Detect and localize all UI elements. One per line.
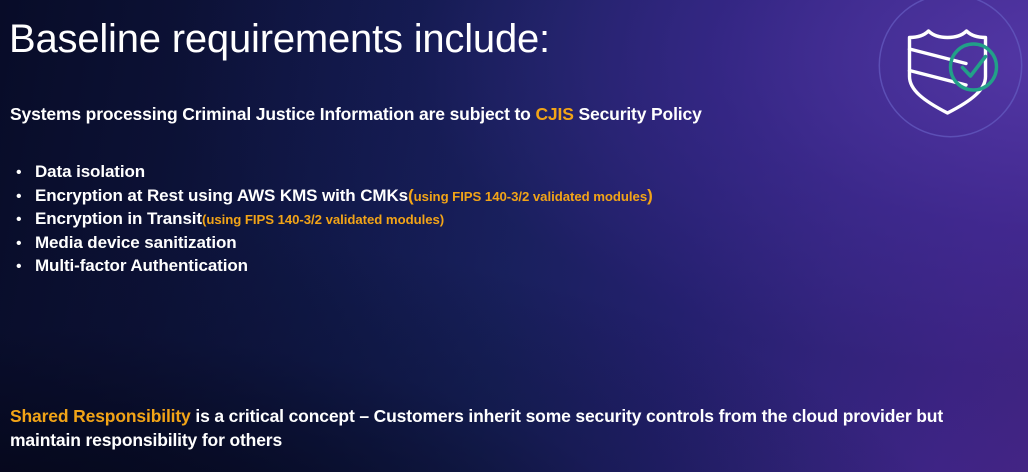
list-item-note: (using FIPS 140-3/2 validated modules) bbox=[202, 212, 444, 227]
subtitle-highlight-cjis: CJIS bbox=[535, 104, 573, 124]
list-item-paren-close: ) bbox=[647, 186, 653, 206]
list-item-label: Encryption in Transit bbox=[35, 209, 202, 229]
list-item-label: Encryption at Rest using AWS KMS with CM… bbox=[35, 186, 408, 206]
list-item-label: Multi-factor Authentication bbox=[35, 256, 248, 276]
list-item-label: Media device sanitization bbox=[35, 233, 237, 253]
list-item: • Encryption at Rest using AWS KMS with … bbox=[10, 186, 870, 210]
list-item-label: Data isolation bbox=[35, 162, 145, 182]
subtitle-text-after: Security Policy bbox=[574, 104, 702, 124]
list-item: • Multi-factor Authentication bbox=[10, 256, 870, 280]
slide-canvas: Baseline requirements include: Systems p… bbox=[0, 0, 1028, 472]
bullet-point-icon: • bbox=[10, 259, 35, 275]
list-item-note: using FIPS 140-3/2 validated modules bbox=[414, 189, 647, 204]
bullet-point-icon: • bbox=[10, 189, 35, 205]
check-circle-icon bbox=[951, 44, 997, 90]
subtitle-text-before: Systems processing Criminal Justice Info… bbox=[10, 104, 535, 124]
bullet-point-icon: • bbox=[10, 165, 35, 181]
bullet-point-icon: • bbox=[10, 212, 35, 228]
footer-note: Shared Responsibility is a critical conc… bbox=[10, 404, 1010, 452]
bullet-point-icon: • bbox=[10, 236, 35, 252]
shield-check-badge bbox=[877, 0, 1024, 139]
list-item: • Encryption in Transit (using FIPS 140-… bbox=[10, 209, 870, 233]
footer-highlight-shared-responsibility: Shared Responsibility bbox=[10, 406, 191, 426]
page-title: Baseline requirements include: bbox=[9, 17, 550, 62]
list-item: • Data isolation bbox=[10, 162, 870, 186]
requirements-bullet-list: • Data isolation • Encryption at Rest us… bbox=[10, 162, 870, 280]
subtitle-line: Systems processing Criminal Justice Info… bbox=[10, 104, 702, 125]
list-item: • Media device sanitization bbox=[10, 233, 870, 257]
